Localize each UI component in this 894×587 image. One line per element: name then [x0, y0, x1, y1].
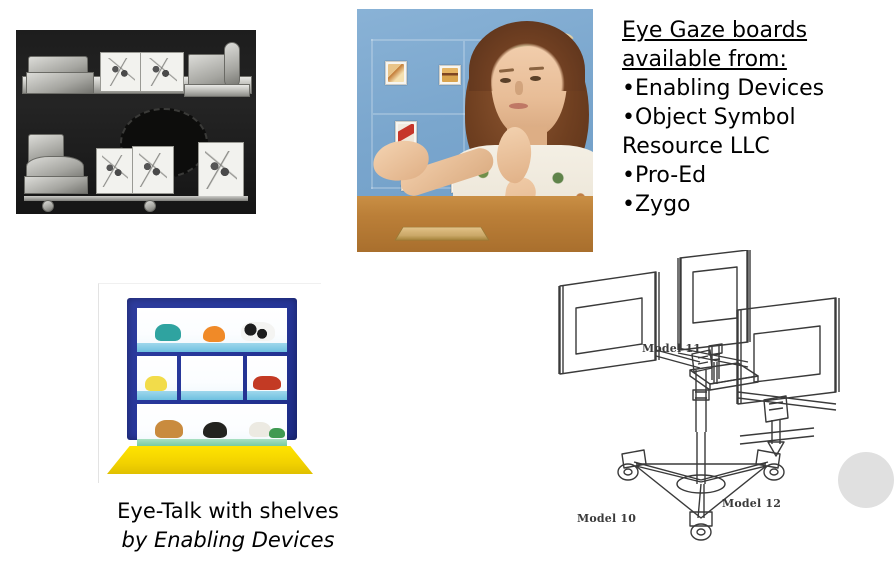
bw-upper-shelf-right: [184, 84, 250, 97]
toy-animal-brown-dog: [155, 420, 183, 438]
bw-object-handle: [224, 42, 240, 88]
decorative-grey-circle: [838, 452, 894, 508]
toy-animal-spotted-cow: [241, 322, 275, 341]
wooden-board-on-table: [394, 227, 489, 241]
shelf-blue-frame: [127, 298, 297, 440]
list-item: •Pro-Ed: [622, 161, 884, 190]
toy-animal-yellow-sheep: [145, 376, 167, 391]
list-item: •Zygo: [622, 190, 884, 219]
heading-line-2: available from:: [622, 45, 884, 74]
model-12-label: Model 12: [722, 497, 781, 510]
vendor-list: •Enabling Devices •Object Symbol Resourc…: [622, 74, 884, 219]
list-item-label: Zygo: [635, 192, 691, 217]
bw-object-left-upper-2: [26, 72, 94, 94]
caster-left: [618, 450, 646, 480]
toy-animal-black-duck: [203, 422, 227, 438]
bw-base-right: [144, 200, 156, 212]
list-item-label: Pro-Ed: [635, 163, 706, 188]
caster-right: [756, 450, 784, 480]
bullet-marker: •: [622, 105, 635, 130]
shelf-yellow-base: [107, 446, 313, 474]
shelf-surface-middle-left: [137, 391, 177, 400]
caption-line-2: by Enabling Devices: [96, 526, 360, 555]
woman-behind-eye-gaze-frame-photo: [357, 9, 593, 252]
heading-line-1: Eye Gaze boards: [622, 16, 884, 45]
eye-talk-caption: Eye-Talk with shelves by Enabling Device…: [96, 497, 360, 555]
bullet-marker: •: [622, 76, 635, 101]
symbol-card-food-1: [385, 61, 407, 85]
bw-object-lower-left-3: [24, 176, 88, 194]
black-and-white-eye-gaze-board-photo: [16, 30, 256, 214]
bw-card-bottom-right: [198, 142, 244, 198]
shelf-surface-top: [137, 343, 287, 352]
bullet-marker: •: [622, 163, 635, 188]
eye-gaze-boards-text-block: Eye Gaze boards available from: •Enablin…: [622, 16, 884, 219]
toy-animal-green-small: [269, 428, 285, 438]
list-item-continuation: Resource LLC: [622, 132, 884, 161]
bullet-marker: •: [622, 192, 635, 217]
shelf-cell-middle-right: [247, 356, 287, 400]
mouth: [509, 103, 528, 109]
list-item: •Enabling Devices: [622, 74, 884, 103]
bw-bottom-rail: [24, 196, 248, 201]
shelf-cell-middle-left: [137, 356, 177, 400]
toy-animal-white-sheep: [249, 422, 271, 437]
shelf-surface-middle-center: [181, 391, 243, 400]
model-10-label: Model 10: [577, 512, 636, 525]
caption-line-1: Eye-Talk with shelves: [96, 497, 360, 526]
bw-card-top-2: [140, 52, 184, 92]
list-item-label: Enabling Devices: [635, 76, 824, 101]
list-item-label-continuation: Resource LLC: [622, 134, 770, 159]
bw-base-left: [42, 200, 54, 212]
model-11-label: Model 11: [642, 342, 701, 355]
wooden-table: [357, 196, 593, 252]
toy-animal-orange-chicken: [203, 326, 225, 342]
list-item-label: Object Symbol: [635, 105, 796, 130]
model-11-drawing: [678, 250, 758, 390]
shelf-cell-middle-center: [181, 356, 243, 400]
list-item: •Object Symbol: [622, 103, 884, 132]
shelf-surface-middle-right: [247, 391, 287, 400]
bw-card-top-1: [100, 52, 142, 92]
toy-animal-red-cow: [253, 376, 281, 390]
symbol-card-hamburger: [439, 65, 461, 85]
bw-card-bottom-1: [96, 148, 134, 194]
eye-gaze-frame-models-line-drawing: Model 10 Model 11 Model 12: [552, 250, 882, 560]
bw-card-bottom-2: [132, 146, 174, 194]
shelf-cell-bottom: [137, 404, 287, 448]
eye-talk-with-shelves-photo: [98, 283, 321, 483]
toy-animal-teal-cow: [155, 324, 181, 341]
caster-front: [690, 512, 712, 540]
slide-canvas: { "slide": { "background_color": "#fffff…: [0, 0, 894, 587]
shelf-cell-top: [137, 308, 287, 352]
